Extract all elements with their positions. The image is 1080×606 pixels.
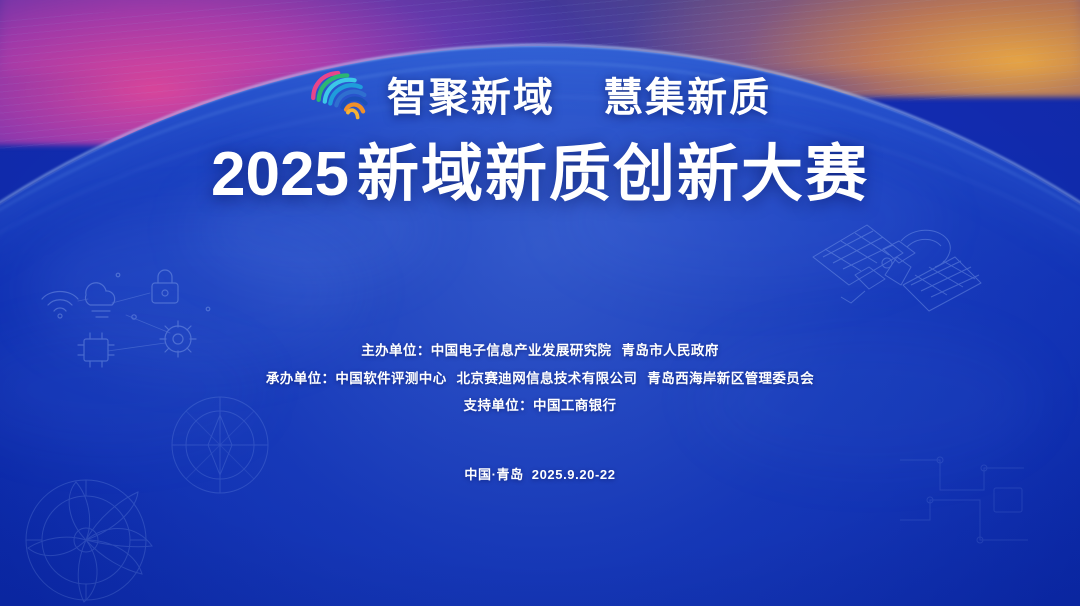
poster-content: 智聚新域 慧集新质 2025新域新质创新大赛 主办单位：中国电子信息产业发展研究… xyxy=(0,0,1080,606)
subtitle-left: 智聚新域 xyxy=(387,76,555,120)
organizer-line-coorganizer: 承办单位：中国软件评测中心北京赛迪网信息技术有限公司青岛西海岸新区管理委员会 xyxy=(266,365,814,393)
organizer-role: 主办单位： xyxy=(361,343,431,358)
organizer-role: 支持单位： xyxy=(464,398,534,413)
event-location: 中国·青岛 xyxy=(464,467,523,482)
poster-subtitle: 智聚新域 慧集新质 xyxy=(387,78,771,118)
title-lockup: 智聚新域 慧集新质 xyxy=(309,70,771,126)
subtitle-right: 慧集新质 xyxy=(603,76,771,120)
title-main: 新域新质创新大赛 xyxy=(357,140,869,209)
location-date-bar: 中国·青岛2025.9.20-22 xyxy=(464,464,615,483)
organizer-name: 北京赛迪网信息技术有限公司 xyxy=(457,371,638,386)
event-poster: 智聚新域 慧集新质 2025新域新质创新大赛 主办单位：中国电子信息产业发展研究… xyxy=(0,0,1080,606)
organizer-line-host: 主办单位：中国电子信息产业发展研究院青岛市人民政府 xyxy=(266,337,814,365)
organizer-name: 青岛西海岸新区管理委员会 xyxy=(647,371,814,386)
swirl-logo-icon xyxy=(309,70,371,126)
poster-title: 2025新域新质创新大赛 xyxy=(211,142,869,209)
organizer-role: 承办单位： xyxy=(266,371,336,386)
organizer-name: 青岛市人民政府 xyxy=(621,343,718,358)
event-dates: 2025.9.20-22 xyxy=(532,467,616,482)
organizer-name: 中国电子信息产业发展研究院 xyxy=(431,343,612,358)
organizer-name: 中国工商银行 xyxy=(533,398,616,413)
organizer-line-supporter: 支持单位：中国工商银行 xyxy=(266,392,814,420)
organizer-block: 主办单位：中国电子信息产业发展研究院青岛市人民政府 承办单位：中国软件评测中心北… xyxy=(266,337,814,420)
title-year: 2025 xyxy=(211,140,349,209)
organizer-name: 中国软件评测中心 xyxy=(335,371,446,386)
